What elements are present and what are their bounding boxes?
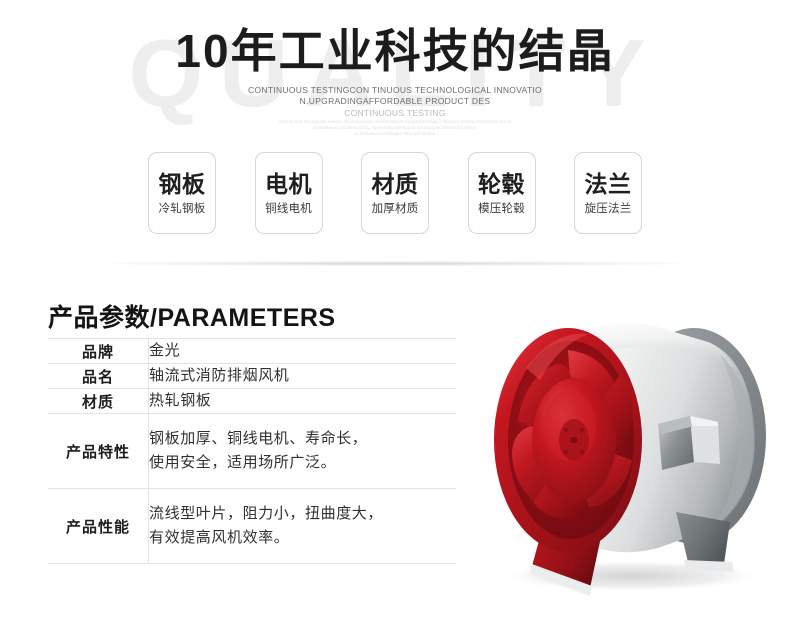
spec-value-line: 热轧钢板 — [149, 389, 456, 413]
spec-value: 流线型叶片，阻力小，扭曲度大， 有效提高风机效率。 — [149, 489, 457, 564]
parameters-heading: 产品参数/PARAMETERS — [48, 298, 336, 334]
table-row: 产品特性 钢板加厚、铜线电机、寿命长， 使用安全，适用场所广泛。 — [48, 414, 456, 489]
table-row: 材质 热轧钢板 — [48, 389, 456, 414]
table-row: 产品性能 流线型叶片，阻力小，扭曲度大， 有效提高风机效率。 — [48, 489, 456, 564]
product-photo-axial-fan — [462, 276, 790, 606]
chip-title: 轮毂 — [478, 171, 525, 197]
feature-chip-hub[interactable]: 轮毂 模压轮毂 — [468, 152, 536, 234]
hero-micro-line-2: GCONTINUOUS TECHNOLOGICAL INNOWTIONCONTI… — [0, 126, 790, 131]
spec-label: 产品性能 — [48, 489, 149, 564]
hero-subtitle-line-2: N.UPGRADINGAFFORDABLE PRODUCT DES — [0, 95, 790, 107]
fan-hub-bolt — [564, 428, 568, 432]
hero-subtitle-line-3: CONTINUOUS TESTING — [0, 107, 790, 119]
spec-value: 钢板加厚、铜线电机、寿命长， 使用安全，适用场所广泛。 — [149, 414, 457, 489]
product-parameters-table: 品牌 金光 品名 轴流式消防排烟风机 材质 热轧钢板 产品特性 钢板加厚、铜线电… — [48, 338, 456, 564]
feature-chip-steel-plate[interactable]: 钢板 冷轧钢板 — [148, 152, 216, 234]
feature-chip-motor[interactable]: 电机 铜线电机 — [255, 152, 323, 234]
spec-value: 金光 — [149, 339, 457, 364]
spec-label: 产品特性 — [48, 414, 149, 489]
feature-chip-material[interactable]: 材质 加厚材质 — [361, 152, 429, 234]
chip-subtitle: 旋压法兰 — [585, 203, 632, 217]
spec-label: 品名 — [48, 364, 149, 389]
spec-value-line: 使用安全，适用场所广泛。 — [149, 451, 456, 475]
chip-subtitle: 模压轮毂 — [478, 203, 525, 217]
table-row: 品牌 金光 — [48, 339, 456, 364]
spec-value-line: 有效提高风机效率。 — [149, 526, 456, 550]
feature-chip-list: 钢板 冷轧钢板 电机 铜线电机 材质 加厚材质 轮毂 模压轮毂 法兰 旋压法兰 — [148, 152, 642, 234]
spec-value-line: 流线型叶片，阻力小，扭曲度大， — [149, 502, 456, 526]
chip-title: 钢板 — [159, 171, 206, 197]
spec-value: 轴流式消防排烟风机 — [149, 364, 457, 389]
chip-subtitle: 加厚材质 — [372, 203, 419, 217]
table-row: 品名 轴流式消防排烟风机 — [48, 364, 456, 389]
fan-foot-rear-pad — [684, 560, 734, 572]
hero-micro-line-3: N.UPGRADINGAFFORDABLE PRODUCT DESIGN — [0, 132, 790, 137]
chip-title: 电机 — [265, 171, 312, 197]
fan-junction-box — [658, 416, 720, 470]
spec-value-line: 轴流式消防排烟风机 — [149, 364, 456, 388]
spec-value: 热轧钢板 — [149, 389, 457, 414]
spec-value-line: 金光 — [149, 339, 456, 363]
fan-hub-bolt — [580, 428, 584, 432]
feature-chip-flange[interactable]: 法兰 旋压法兰 — [574, 152, 642, 234]
chip-title: 材质 — [372, 171, 419, 197]
chip-subtitle: 铜线电机 — [265, 203, 312, 217]
fan-hub-bolt — [564, 450, 568, 454]
fan-hub-bolt — [580, 450, 584, 454]
spec-label: 品牌 — [48, 339, 149, 364]
chip-title: 法兰 — [585, 171, 632, 197]
spec-label: 材质 — [48, 389, 149, 414]
page-title: 10年工业科技的结晶 — [0, 24, 790, 79]
spec-value-line: 钢板加厚、铜线电机、寿命长， — [149, 427, 456, 451]
chip-subtitle: 冷轧钢板 — [159, 203, 206, 217]
hero-micro-line-1: CONTINUOUS TESTINGCON TINUOUS TECHNOLOGI… — [0, 120, 790, 125]
section-divider — [110, 261, 680, 266]
fan-hub-center-bolt — [571, 437, 578, 444]
hero-banner: QUALITY 10年工业科技的结晶 CONTINUOUS TESTINGCON… — [0, 0, 790, 262]
